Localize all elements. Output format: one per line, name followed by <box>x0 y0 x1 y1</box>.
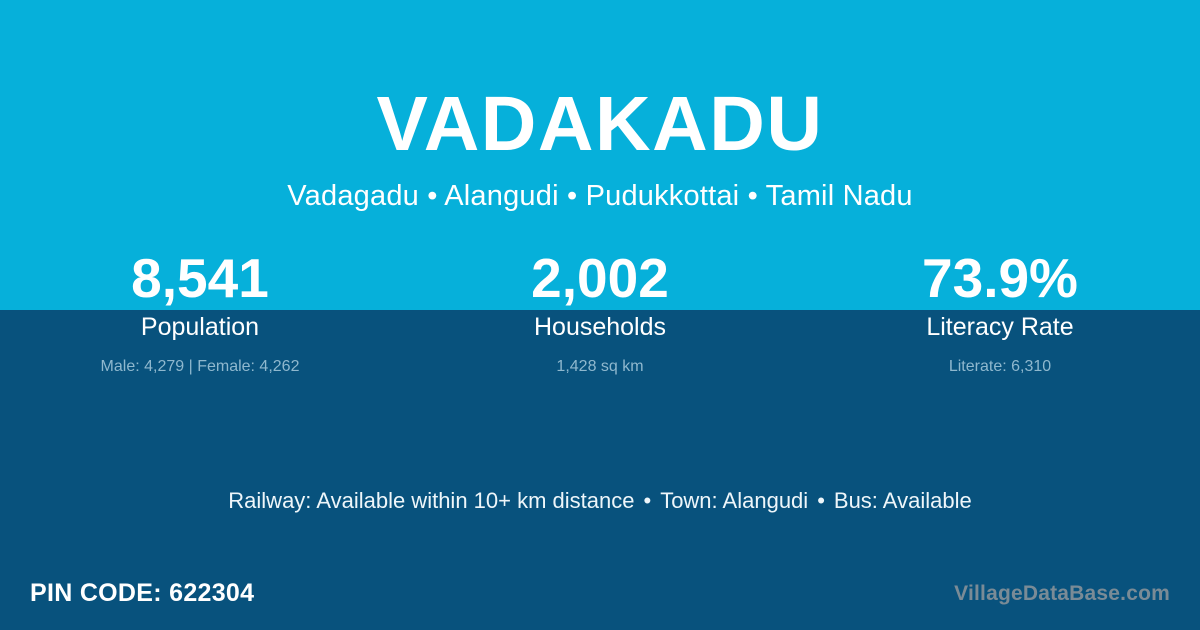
card-footer: PIN CODE: 622304 VillageDataBase.com <box>0 575 1200 615</box>
info-town: Town: Alangudi <box>660 488 808 513</box>
stat-literacy-rate-sub: Literate: 6,310 <box>800 357 1200 377</box>
stats-row: 8,541 Population Male: 4,279 | Female: 4… <box>0 246 1200 377</box>
village-info-card: VADAKADU Vadagadu • Alangudi • Pudukkott… <box>0 0 1200 630</box>
info-separator-1: • <box>634 487 660 514</box>
amenities-info-line: Railway: Available within 10+ km distanc… <box>0 487 1200 514</box>
info-railway: Railway: Available within 10+ km distanc… <box>228 488 634 513</box>
breadcrumb: Vadagadu • Alangudi • Pudukkottai • Tami… <box>0 182 1200 211</box>
stat-population: 8,541 Population Male: 4,279 | Female: 4… <box>0 246 400 377</box>
stat-households-label: Households <box>400 312 800 342</box>
stat-population-value: 8,541 <box>0 246 400 310</box>
stat-literacy-rate: 73.9% Literacy Rate Literate: 6,310 <box>800 246 1200 377</box>
stat-population-label: Population <box>0 312 400 342</box>
page-title: VADAKADU <box>0 86 1200 163</box>
stat-households-value: 2,002 <box>400 246 800 310</box>
stat-households-sub: 1,428 sq km <box>400 357 800 377</box>
stat-households: 2,002 Households 1,428 sq km <box>400 246 800 377</box>
info-bus: Bus: Available <box>834 488 972 513</box>
pin-code-label: PIN CODE: 622304 <box>30 575 254 611</box>
stat-literacy-rate-value: 73.9% <box>800 246 1200 310</box>
stat-population-sub: Male: 4,279 | Female: 4,262 <box>0 357 400 377</box>
site-watermark: VillageDataBase.com <box>954 577 1170 611</box>
stat-literacy-rate-label: Literacy Rate <box>800 312 1200 342</box>
info-separator-2: • <box>808 487 834 514</box>
